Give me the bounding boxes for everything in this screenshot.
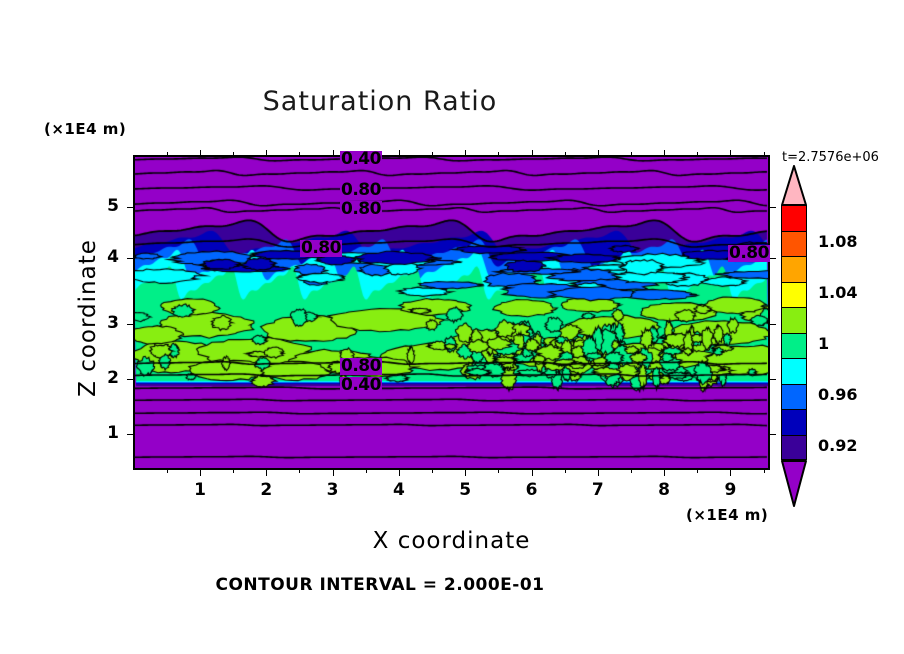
x-axis-minor-tick [167, 152, 168, 155]
y-axis-tick-label: 4 [95, 247, 119, 267]
colorbar-band[interactable] [781, 231, 807, 257]
x-axis-minor-tick [299, 152, 300, 155]
x-axis-tick [730, 150, 731, 156]
colorbar-tick-label: 1.08 [818, 232, 857, 251]
x-axis-minor-tick [764, 470, 765, 473]
y-axis-tick-label: 3 [95, 313, 119, 333]
colorbar-cap-top [781, 165, 807, 205]
x-axis-minor-tick [366, 470, 367, 473]
x-axis-tick [266, 470, 267, 476]
contour-line-label: 0.40 [340, 151, 382, 168]
y-axis-tick [770, 258, 776, 259]
x-axis-minor-tick [631, 152, 632, 155]
x-axis-tick-label: 9 [710, 480, 750, 500]
x-axis-minor-tick [299, 470, 300, 473]
x-axis-tick [730, 470, 731, 476]
colorbar-band[interactable] [781, 256, 807, 282]
colorbar-band[interactable] [781, 205, 807, 231]
x-axis-tick-label: 4 [379, 480, 419, 500]
y-axis-tick [127, 379, 133, 380]
x-axis-tick-label: 6 [512, 480, 552, 500]
x-axis-tick-label: 8 [644, 480, 684, 500]
colorbar-tick-label: 0.92 [818, 436, 857, 455]
x-axis-minor-tick [697, 152, 698, 155]
contour-field-canvas [135, 157, 768, 468]
y-axis-tick [770, 434, 776, 435]
x-axis-tick-label: 3 [313, 480, 353, 500]
contour-line-label: 0.40 [340, 377, 382, 394]
x-axis-tick-label: 5 [445, 480, 485, 500]
x-axis-minor-tick [631, 470, 632, 473]
contour-plot-area[interactable] [133, 155, 770, 470]
timestamp-annotation: t=2.7576e+06 [782, 150, 879, 165]
contour-line-label: 0.80 [300, 240, 342, 257]
x-axis-tick [598, 470, 599, 476]
y-axis-tick [127, 434, 133, 435]
x-axis-tick [200, 150, 201, 156]
y-axis-unit-label: (×1E4 m) [44, 120, 126, 138]
x-axis-minor-tick [565, 470, 566, 473]
x-axis-tick [664, 470, 665, 476]
x-axis-minor-tick [432, 470, 433, 473]
y-axis-tick-label: 1 [95, 423, 119, 443]
x-axis-tick-label: 2 [246, 480, 286, 500]
colorbar[interactable] [781, 205, 807, 460]
colorbar-band[interactable] [781, 307, 807, 333]
x-axis-tick [532, 150, 533, 156]
x-axis-tick-label: 7 [578, 480, 618, 500]
x-axis-minor-tick [233, 470, 234, 473]
x-axis-minor-tick [498, 152, 499, 155]
x-axis-tick [200, 470, 201, 476]
x-axis-title: X coordinate [133, 528, 770, 554]
x-axis-minor-tick [697, 470, 698, 473]
x-axis-tick [465, 150, 466, 156]
colorbar-tick-label: 0.96 [818, 385, 857, 404]
contour-line-label: 0.80 [728, 245, 770, 262]
colorbar-band[interactable] [781, 282, 807, 308]
x-axis-minor-tick [764, 152, 765, 155]
contour-line-label: 0.80 [340, 358, 382, 375]
x-axis-tick [465, 470, 466, 476]
colorbar-band[interactable] [781, 435, 807, 461]
colorbar-tick-label: 1.04 [818, 283, 857, 302]
x-axis-tick [399, 470, 400, 476]
y-axis-tick [127, 324, 133, 325]
x-axis-minor-tick [565, 152, 566, 155]
y-axis-tick [770, 207, 776, 208]
y-axis-tick-label: 5 [95, 196, 119, 216]
x-axis-unit-label: (×1E4 m) [686, 506, 768, 524]
x-axis-minor-tick [233, 152, 234, 155]
x-axis-minor-tick [432, 152, 433, 155]
x-axis-tick [664, 150, 665, 156]
contour-line-label: 0.80 [340, 201, 382, 218]
colorbar-band[interactable] [781, 333, 807, 359]
y-axis-tick [127, 207, 133, 208]
colorbar-tick-label: 1 [818, 334, 829, 353]
y-axis-tick [770, 379, 776, 380]
y-axis-tick [770, 324, 776, 325]
contour-interval-caption: CONTOUR INTERVAL = 2.000E-01 [0, 575, 760, 595]
x-axis-tick [333, 470, 334, 476]
contour-line-label: 0.80 [340, 182, 382, 199]
x-axis-tick [399, 150, 400, 156]
y-axis-tick [127, 258, 133, 259]
page-title: Saturation Ratio [0, 86, 760, 117]
x-axis-tick [333, 150, 334, 156]
colorbar-band[interactable] [781, 409, 807, 435]
x-axis-tick [532, 470, 533, 476]
x-axis-minor-tick [498, 470, 499, 473]
x-axis-minor-tick [167, 470, 168, 473]
x-axis-tick [266, 150, 267, 156]
colorbar-cap-bottom [781, 460, 807, 506]
x-axis-tick [598, 150, 599, 156]
colorbar-band[interactable] [781, 384, 807, 410]
y-axis-tick-label: 2 [95, 368, 119, 388]
x-axis-tick-label: 1 [180, 480, 220, 500]
colorbar-band[interactable] [781, 358, 807, 384]
